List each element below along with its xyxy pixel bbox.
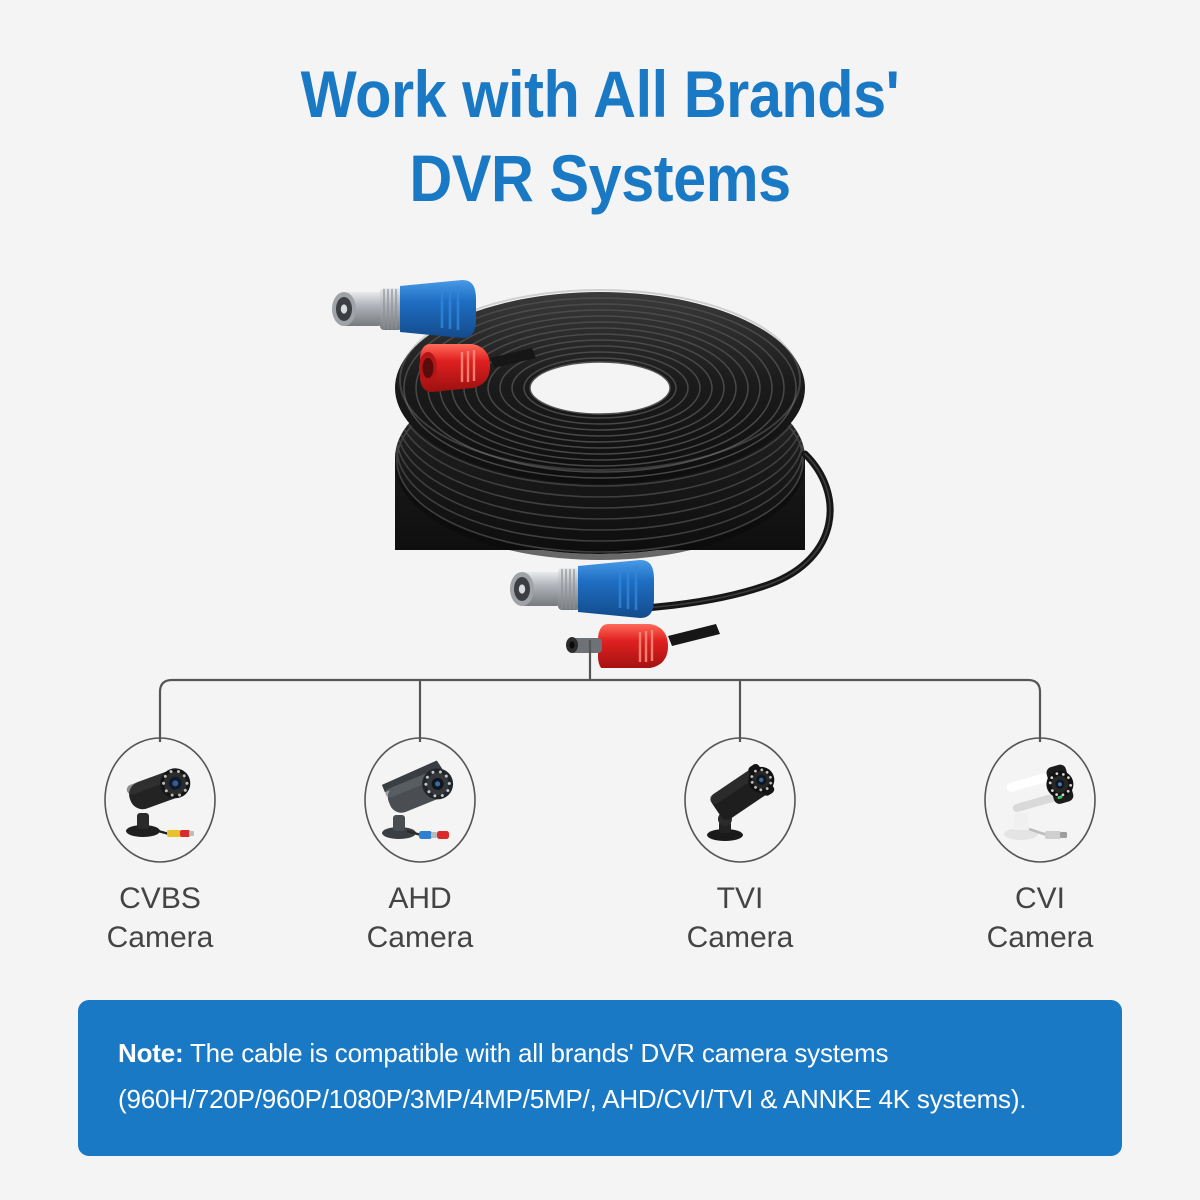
camera-label-cvi: CVI Camera [930, 879, 1150, 957]
camera-label-ahd: AHD Camera [310, 879, 530, 957]
camera-label-tvi: TVI Camera [630, 879, 850, 957]
bullet-camera-icon [381, 758, 458, 839]
camera-circle-cvi [983, 735, 1097, 865]
camera-label-cvbs: CVBS Camera [50, 879, 270, 957]
bullet-camera-icon [707, 758, 782, 841]
page-title: Work with All Brands' DVR Systems [0, 52, 1200, 220]
camera-circle-tvi [683, 735, 797, 865]
page-title-line-2: DVR Systems [60, 136, 1140, 220]
note-prefix: Note: [118, 1038, 183, 1068]
note-line-2: (960H/720P/960P/1080P/3MP/4MP/5MP/, AHD/… [118, 1076, 1082, 1122]
bnc-connector-bottom [510, 560, 654, 618]
promo-infographic: Work with All Brands' DVR Systems [0, 0, 1200, 1200]
bnc-blue-boot [400, 280, 476, 338]
note-line-1: Note: The cable is compatible with all b… [118, 1030, 1082, 1076]
camera-circle-ahd [363, 735, 477, 865]
camera-node-cvbs[interactable]: CVBS Camera [50, 735, 270, 957]
camera-node-cvi[interactable]: CVI Camera [930, 735, 1150, 957]
cable-product-image [300, 258, 920, 668]
bullet-camera-icon [1004, 762, 1078, 840]
camera-type-row: CVBS Camera [0, 735, 1200, 965]
camera-icon-cvi [983, 735, 1097, 865]
bnc-blue-boot-bottom [578, 560, 654, 618]
camera-icon-tvi [683, 735, 797, 865]
compatibility-note-box: Note: The cable is compatible with all b… [78, 1000, 1122, 1156]
bnc-connector-top [332, 280, 476, 338]
camera-node-ahd[interactable]: AHD Camera [310, 735, 530, 957]
cable-coil-illustration [300, 258, 920, 668]
camera-circle-cvbs [103, 735, 217, 865]
bullet-camera-icon [125, 764, 194, 837]
page-title-line-1: Work with All Brands' [60, 52, 1140, 136]
camera-node-tvi[interactable]: TVI Camera [630, 735, 850, 957]
note-text-1: The cable is compatible with all brands'… [183, 1038, 888, 1068]
camera-icon-cvbs [103, 735, 217, 865]
camera-icon-ahd [363, 735, 477, 865]
branch-bar [160, 680, 1040, 742]
